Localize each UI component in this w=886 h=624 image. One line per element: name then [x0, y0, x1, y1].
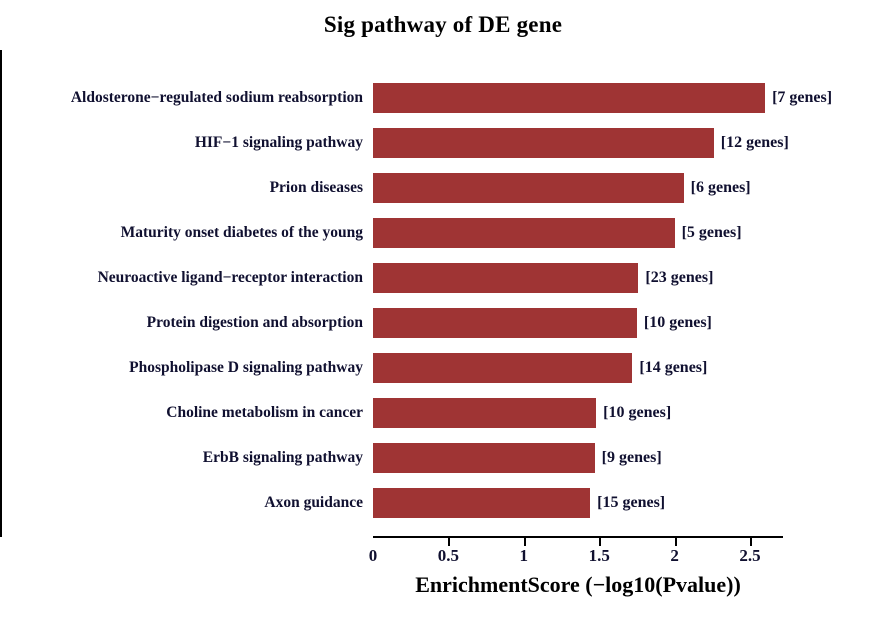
bar	[373, 218, 675, 248]
x-tick-mark	[750, 538, 752, 546]
bar-row: Prion diseases[6 genes]	[0, 173, 886, 203]
bar	[373, 353, 632, 383]
x-tick-mark	[524, 538, 526, 546]
gene-count-label: [10 genes]	[596, 398, 671, 428]
x-tick-mark	[675, 538, 677, 546]
category-label: Prion diseases	[0, 173, 368, 203]
x-tick-label: 2	[645, 546, 705, 566]
category-label: Maturity onset diabetes of the young	[0, 218, 368, 248]
bar-row: Maturity onset diabetes of the young[5 g…	[0, 218, 886, 248]
x-axis-line	[373, 536, 783, 538]
chart-title: Sig pathway of DE gene	[0, 12, 886, 38]
category-label: Phospholipase D signaling pathway	[0, 353, 368, 383]
category-label: Aldosterone−regulated sodium reabsorptio…	[0, 83, 368, 113]
x-tick-label: 2.5	[720, 546, 780, 566]
bar	[373, 443, 595, 473]
bar-row: Phospholipase D signaling pathway[14 gen…	[0, 353, 886, 383]
bar-row: Neuroactive ligand−receptor interaction[…	[0, 263, 886, 293]
x-tick-label: 1.5	[569, 546, 629, 566]
gene-count-label: [12 genes]	[714, 128, 789, 158]
bar	[373, 263, 638, 293]
gene-count-label: [15 genes]	[590, 488, 665, 518]
bar	[373, 308, 637, 338]
bar-row: ErbB signaling pathway[9 genes]	[0, 443, 886, 473]
bar-row: HIF−1 signaling pathway[12 genes]	[0, 128, 886, 158]
bar	[373, 128, 714, 158]
x-tick-mark	[448, 538, 450, 546]
gene-count-label: [23 genes]	[638, 263, 713, 293]
category-label: ErbB signaling pathway	[0, 443, 368, 473]
x-tick-label: 1	[494, 546, 554, 566]
bar	[373, 398, 596, 428]
category-label: HIF−1 signaling pathway	[0, 128, 368, 158]
bar	[373, 83, 765, 113]
category-label: Axon guidance	[0, 488, 368, 518]
bar	[373, 173, 684, 203]
x-tick-mark	[599, 538, 601, 546]
category-label: Neuroactive ligand−receptor interaction	[0, 263, 368, 293]
x-axis-title: EnrichmentScore (−log10(Pvalue))	[373, 572, 783, 598]
category-label: Protein digestion and absorption	[0, 308, 368, 338]
gene-count-label: [6 genes]	[684, 173, 751, 203]
gene-count-label: [7 genes]	[765, 83, 832, 113]
bar-row: Protein digestion and absorption[10 gene…	[0, 308, 886, 338]
gene-count-label: [5 genes]	[675, 218, 742, 248]
bar-chart: Sig pathway of DE gene Aldosterone−regul…	[0, 0, 886, 624]
category-label: Choline metabolism in cancer	[0, 398, 368, 428]
bar-row: Choline metabolism in cancer[10 genes]	[0, 398, 886, 428]
bar-row: Axon guidance[15 genes]	[0, 488, 886, 518]
gene-count-label: [10 genes]	[637, 308, 712, 338]
bar	[373, 488, 590, 518]
x-tick-label: 0.5	[418, 546, 478, 566]
bar-row: Aldosterone−regulated sodium reabsorptio…	[0, 83, 886, 113]
gene-count-label: [14 genes]	[632, 353, 707, 383]
x-tick-label: 0	[343, 546, 403, 566]
gene-count-label: [9 genes]	[595, 443, 662, 473]
